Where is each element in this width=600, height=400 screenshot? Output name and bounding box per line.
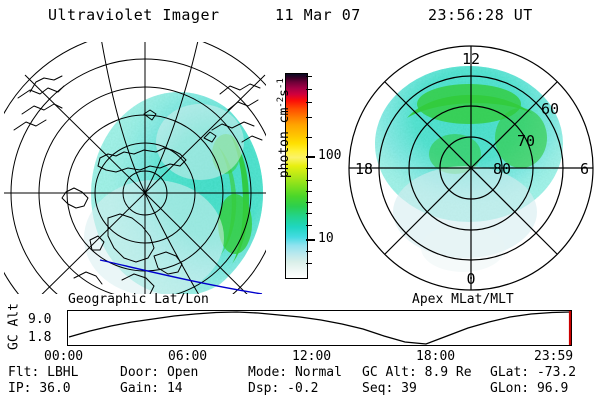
- status-mode-label: Mode:: [248, 365, 287, 380]
- orbit-altitude-strip[interactable]: GC Alt 9.0 1.8 00:00 06:00 12:00 18:00 2…: [0, 305, 600, 363]
- colorbar-tick: [306, 191, 312, 192]
- colorbar-tick: [306, 89, 312, 90]
- status-glon: GLon: 96.9: [490, 381, 568, 396]
- orbit-ytick-bottom: 1.8: [28, 330, 51, 345]
- status-seq: Seq: 39: [362, 381, 417, 396]
- apex-plot-svg: 12 18 6 0 60 70 80: [345, 42, 597, 294]
- status-seq-value: 39: [401, 381, 417, 396]
- status-ip: IP: 36.0: [8, 381, 71, 396]
- status-flt-value: LBHL: [47, 365, 78, 380]
- colorbar-tick: [306, 213, 312, 214]
- orbit-plot-svg: [67, 310, 572, 346]
- observation-date: 11 Mar 07: [275, 6, 361, 24]
- colorbar-tick: [306, 202, 312, 203]
- status-glon-label: GLon:: [490, 381, 529, 396]
- colorbar-axis-label-mid: s: [277, 89, 292, 97]
- orbit-xtick-2: 12:00: [292, 349, 331, 364]
- orbit-y-axis-label: GC Alt: [7, 299, 22, 355]
- colorbar-group: 100 10 photon cm-2s-1: [266, 60, 346, 290]
- colorbar-tick: [306, 251, 312, 252]
- mlat-label-80: 80: [493, 160, 511, 178]
- status-ip-value: 36.0: [39, 381, 70, 396]
- instrument-title: Ultraviolet Imager: [48, 6, 220, 24]
- orbit-plot-frame: [68, 311, 572, 346]
- geographic-plot-svg: [4, 42, 266, 294]
- orbit-xtick-0: 00:00: [44, 349, 83, 364]
- apex-mlat-mlt-image[interactable]: 12 18 6 0 60 70 80: [345, 42, 597, 294]
- status-dsp-value: -0.2: [287, 381, 318, 396]
- status-glat: GLat: -73.2: [490, 365, 576, 380]
- colorbar-tick: [306, 168, 312, 169]
- status-flt-label: Flt:: [8, 365, 39, 380]
- status-glat-label: GLat:: [490, 365, 529, 380]
- mlt-label-6: 6: [580, 160, 589, 178]
- colorbar-tick: [306, 263, 312, 264]
- status-flt: Flt: LBHL: [8, 365, 78, 380]
- status-door-value: Open: [167, 365, 198, 380]
- status-seq-label: Seq:: [362, 381, 393, 396]
- status-gcalt-value: 8.9 Re: [425, 365, 472, 380]
- colorbar-tick: [306, 76, 312, 77]
- mlat-label-60: 60: [541, 100, 559, 118]
- orbit-xtick-4: 23:59: [534, 349, 573, 364]
- header-bar: Ultraviolet Imager 11 Mar 07 23:56:28 UT: [0, 6, 600, 30]
- orbit-xtick-1: 06:00: [168, 349, 207, 364]
- status-ip-label: IP:: [8, 381, 31, 396]
- colorbar-tick-major: [306, 239, 315, 241]
- orbit-altitude-curve: [69, 312, 570, 344]
- mlat-label-70: 70: [517, 132, 535, 150]
- mlt-spokes: [349, 46, 593, 290]
- orbit-xtick-3: 18:00: [416, 349, 455, 364]
- uv-imager-display: Ultraviolet Imager 11 Mar 07 23:56:28 UT: [0, 0, 600, 400]
- colorbar-axis-label-main: photon cm: [277, 108, 292, 178]
- colorbar-tick: [306, 225, 312, 226]
- status-mode: Mode: Normal: [248, 365, 342, 380]
- status-gain-label: Gain:: [120, 381, 159, 396]
- observation-time: 23:56:28 UT: [428, 6, 533, 24]
- status-dsp: Dsp: -0.2: [248, 381, 318, 396]
- colorbar-axis-exponent-1: -2: [276, 97, 286, 108]
- status-glon-value: 96.9: [537, 381, 568, 396]
- colorbar-label-100: 100: [318, 149, 341, 162]
- status-footer: Flt: LBHL Door: Open Mode: Normal GC Alt…: [0, 365, 600, 399]
- status-gain: Gain: 14: [120, 381, 183, 396]
- colorbar-tick: [306, 102, 312, 103]
- status-gcalt: GC Alt: 8.9 Re: [362, 365, 472, 380]
- geographic-lat-lon-image[interactable]: [4, 42, 266, 294]
- orbit-ytick-top: 9.0: [28, 312, 51, 327]
- status-gcalt-label: GC Alt:: [362, 365, 417, 380]
- status-door-label: Door:: [120, 365, 159, 380]
- mlt-label-12: 12: [462, 50, 480, 68]
- colorbar-tick: [306, 117, 312, 118]
- mlt-label-18: 18: [355, 160, 373, 178]
- colorbar-axis-exponent-2: -1: [276, 78, 286, 89]
- mlt-label-0: 0: [466, 270, 475, 288]
- colorbar-tick: [306, 180, 312, 181]
- colorbar-tick-major: [306, 156, 315, 158]
- colorbar-axis-label: photon cm-2s-1: [276, 48, 292, 208]
- colorbar-tick: [306, 137, 312, 138]
- colorbar-label-10: 10: [318, 232, 334, 245]
- status-door: Door: Open: [120, 365, 198, 380]
- aurora-emission-region-apex: [375, 66, 563, 272]
- status-mode-value: Normal: [295, 365, 342, 380]
- orbit-plot-box[interactable]: [67, 310, 572, 346]
- status-gain-value: 14: [167, 381, 183, 396]
- status-glat-value: -73.2: [537, 365, 576, 380]
- status-dsp-label: Dsp:: [248, 381, 279, 396]
